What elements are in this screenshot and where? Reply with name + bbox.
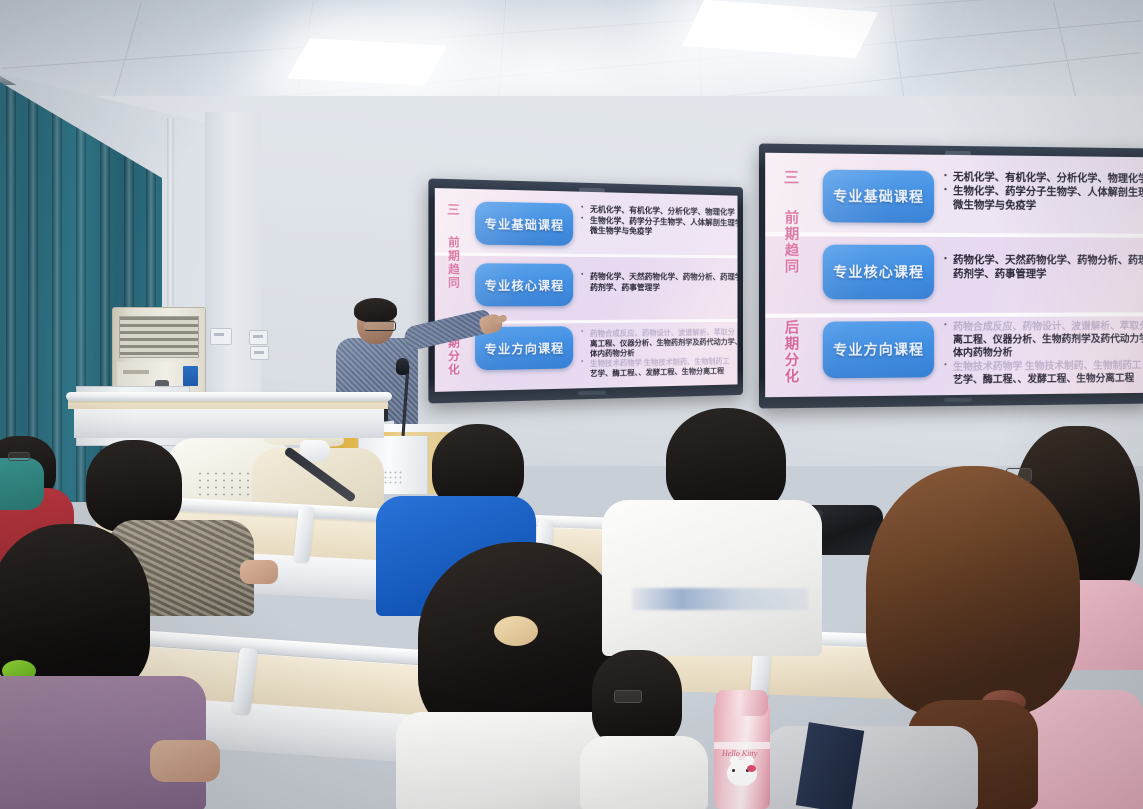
slide-block-direction-right: 药物合成反应、药物设计、波谱解析、萃取分 离工程、仪器分析、生物药剂学及药代动力…	[944, 320, 1143, 387]
slide-vlabel-mid-right: 前期趋同	[780, 210, 801, 308]
slide-vlabel-top: 三	[444, 203, 462, 239]
presenter-hair	[354, 298, 397, 322]
slide-line: 艺学、酶工程、、发酵工程、生物分离工程	[944, 372, 1143, 387]
ac-brand-logo	[123, 370, 149, 374]
hair-scrunchie	[494, 616, 538, 646]
pill-basic-courses: 专业基础课程	[475, 201, 573, 245]
slide-vlabel-top-right: 三	[780, 169, 802, 212]
torso	[580, 736, 708, 809]
slide-block-direction: 药物合成反应、药物设计、波谱解析、萃取分 离工程、仪器分析、生物药剂学及药代动力…	[581, 328, 737, 380]
screen-logo-left	[578, 391, 606, 396]
ac-vent-grill	[119, 316, 199, 358]
slide-vlabel-bottom-right: 后期分化	[780, 320, 801, 393]
arm	[150, 740, 220, 782]
slide-line: 药物合成反应、药物设计、波谱解析、萃取分	[581, 328, 737, 340]
microphone-icon[interactable]	[396, 358, 409, 375]
wall-outlet-lower[interactable]	[250, 346, 269, 360]
pill-basic-courses-right: 专业基础课程	[823, 170, 934, 223]
slide-line: 微生物学与免疫学	[944, 199, 1143, 214]
torso	[0, 458, 44, 510]
pill-direction-courses-right: 专业方向课程	[823, 321, 934, 378]
slide-content-right: 三 前期趋同 后期分化 专业基础课程 专业核心课程 专业方向课程 无机化学、有机…	[765, 153, 1143, 397]
screen-logo-right	[944, 398, 972, 402]
slide-line: 药物化学、天然药物化学、药物分析、药理学、	[944, 254, 1143, 268]
slide-vlabel-mid: 前期趋同	[444, 236, 461, 317]
classroom-photo-scene: 三 前期趋同 后期分化 专业基础课程 专业核心课程 专业方向课程 无机化学、有机…	[0, 0, 1143, 809]
hair	[86, 440, 182, 532]
hand	[240, 560, 278, 584]
ac-badge	[183, 366, 198, 386]
thermos-band	[714, 742, 770, 749]
pill-core-courses-right: 专业核心课程	[823, 245, 934, 300]
thermos-cap	[716, 690, 768, 716]
desk-rail	[66, 392, 392, 401]
slide-line: 生物化学、药学分子生物学、人体解剖生理学、	[944, 185, 1143, 201]
slide-line: 药物化学、天然药物化学、药物分析、药理学、	[581, 272, 737, 283]
hair	[866, 466, 1080, 716]
slide-line: 离工程、仪器分析、生物药剂学及药代动力学、	[944, 333, 1143, 347]
slide-block-core-right: 药物化学、天然药物化学、药物分析、药理学、 药剂学、药事管理学	[944, 254, 1143, 282]
slide-block-core: 药物化学、天然药物化学、药物分析、药理学、 药剂学、药事管理学	[581, 272, 737, 293]
slide-block-basic-right: 无机化学、有机化学、分析化学、物理化学 生物化学、药学分子生物学、人体解剖生理学…	[944, 171, 1143, 214]
slide-content-left: 三 前期趋同 后期分化 专业基础课程 专业核心课程 专业方向课程 无机化学、有机…	[435, 188, 738, 392]
tshirt-print	[632, 588, 808, 610]
hello-kitty-icon	[727, 760, 757, 786]
pill-core-courses: 专业核心课程	[475, 263, 573, 306]
torso	[602, 500, 822, 656]
hoodie-print	[196, 470, 252, 500]
glasses-icon	[364, 321, 396, 331]
glasses-icon	[614, 690, 642, 703]
light-switch-plate[interactable]	[210, 328, 232, 345]
slide-line: 药剂学、药事管理学	[581, 283, 737, 294]
thermos-bottle[interactable]: Hello Kitty	[714, 700, 770, 809]
slide-line: 药物合成反应、药物设计、波谱解析、萃取分	[944, 320, 1143, 334]
slide-line: 药剂学、药事管理学	[944, 268, 1143, 282]
slide-block-basic: 无机化学、有机化学、分析化学、物理化学 生物化学、药学分子生物学、人体解剖生理学…	[581, 205, 737, 239]
glasses-icon	[8, 452, 30, 461]
slide-line: 生物技术药物学 生物技术制药、生物制药工	[944, 359, 1143, 374]
